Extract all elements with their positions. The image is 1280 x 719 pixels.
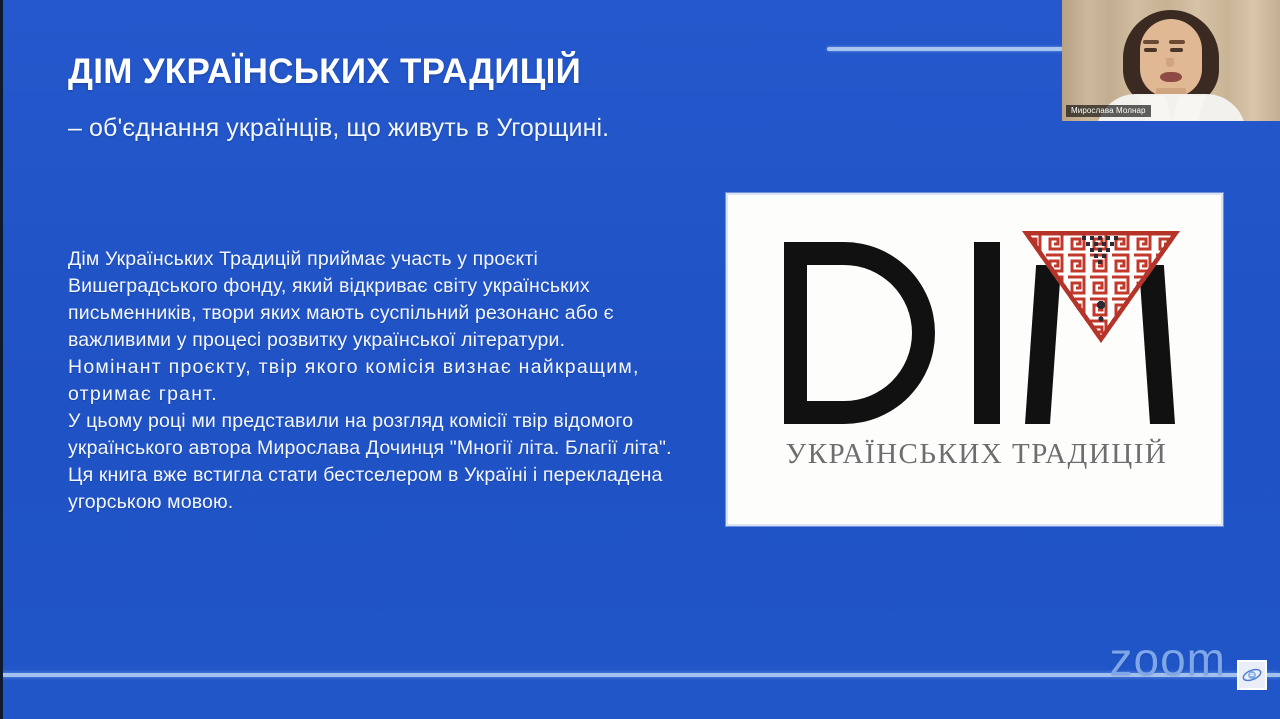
- letter-i-stem: [974, 242, 1000, 424]
- slide-body-block: Дім Українських Традицій приймає участь …: [68, 246, 680, 516]
- swirl-icon: [1237, 660, 1267, 690]
- logo-caption: УКРАЇНСЬКИХ ТРАДИЦІЙ: [728, 438, 1223, 471]
- letter-d-stem: [784, 242, 807, 424]
- slide-heading-block: ДІМ УКРАЇНСЬКИХ ТРАДИЦІЙ – об'єднання ук…: [68, 52, 688, 145]
- participant-name-label: Мирослава Молнар: [1066, 105, 1151, 117]
- body-paragraph: У цьому році ми представили на розгляд к…: [68, 408, 680, 462]
- eye-right: [1170, 48, 1183, 52]
- eye-left: [1144, 48, 1157, 52]
- eyebrow-right: [1169, 40, 1185, 44]
- page-title: ДІМ УКРАЇНСЬКИХ ТРАДИЦІЙ: [68, 52, 688, 91]
- nose: [1166, 58, 1174, 67]
- zoom-watermark: zoom: [1110, 636, 1226, 682]
- zoom-screen-share-view: ДІМ УКРАЇНСЬКИХ ТРАДИЦІЙ – об'єднання ук…: [0, 0, 1280, 719]
- body-paragraph: Дім Українських Традицій приймає участь …: [68, 246, 680, 354]
- body-paragraph: Ця книга вже встигла стати бестселером в…: [68, 462, 680, 516]
- organization-logo-card: УКРАЇНСЬКИХ ТРАДИЦІЙ: [726, 193, 1223, 526]
- logo-wordmark-dim: [778, 237, 1183, 432]
- mouth: [1160, 72, 1182, 82]
- participant-video-tile[interactable]: Мирослава Молнар: [1062, 0, 1280, 121]
- eyebrow-left: [1143, 40, 1159, 44]
- slide-subtitle: – об'єднання українців, що живуть в Угор…: [68, 113, 688, 145]
- logo-artwork: УКРАЇНСЬКИХ ТРАДИЦІЙ: [728, 195, 1223, 526]
- bottom-divider-rule: [0, 673, 1280, 677]
- letter-d-bowl: [807, 242, 935, 424]
- body-paragraph: Номінант проєкту, твір якого комісія виз…: [68, 354, 680, 408]
- embroidery-triangle-icon: [1022, 231, 1180, 349]
